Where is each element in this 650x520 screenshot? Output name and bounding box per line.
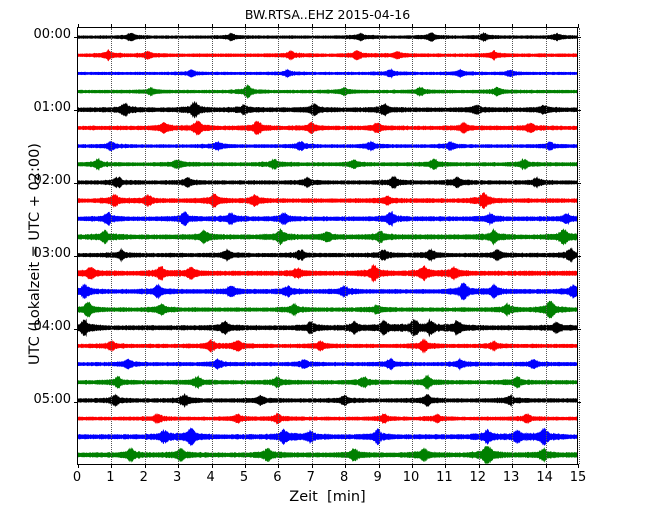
- y-tick-mark: [577, 110, 581, 111]
- x-tick-mark: [245, 464, 246, 468]
- seismogram-trace: [78, 211, 577, 226]
- seismogram-trace: [78, 192, 577, 208]
- x-tick-label: 4: [206, 470, 214, 485]
- x-tick-mark: [278, 464, 279, 468]
- seismogram-trace: [78, 359, 577, 370]
- x-tick-label: 14: [536, 470, 553, 485]
- seismogram-trace: [78, 413, 577, 424]
- grid-line-vertical: [412, 28, 413, 464]
- x-tick-mark: [412, 24, 413, 28]
- y-tick-mark: [577, 256, 581, 257]
- x-tick-mark: [546, 464, 547, 468]
- x-tick-label: 7: [307, 470, 315, 485]
- x-tick-mark: [145, 24, 146, 28]
- x-tick-label: 11: [436, 470, 453, 485]
- seismogram-trace: [78, 339, 577, 353]
- x-tick-mark: [78, 24, 79, 28]
- x-tick-mark: [78, 464, 79, 468]
- seismogram-canvas: [78, 28, 577, 464]
- seismogram-trace: [78, 101, 577, 118]
- x-tick-mark: [445, 24, 446, 28]
- grid-line-vertical: [345, 28, 346, 464]
- x-tick-mark: [479, 464, 480, 468]
- y-tick-mark: [74, 402, 78, 403]
- y-tick-mark: [74, 183, 78, 184]
- x-tick-label: 8: [340, 470, 348, 485]
- x-tick-mark: [212, 464, 213, 468]
- seismogram-trace: [78, 319, 577, 336]
- plot-axes: [77, 27, 578, 465]
- seismogram-figure: BW.RTSA..EHZ 2015-04-16 0123456789101112…: [0, 0, 650, 520]
- grid-line-vertical: [145, 28, 146, 464]
- grid-line-vertical: [445, 28, 446, 464]
- y-tick-mark: [74, 37, 78, 38]
- x-tick-mark: [379, 24, 380, 28]
- seismogram-trace: [78, 33, 577, 42]
- page-title: BW.RTSA..EHZ 2015-04-16: [77, 7, 578, 22]
- grid-line-vertical: [379, 28, 380, 464]
- grid-line-vertical: [479, 28, 480, 464]
- x-tick-label: 2: [140, 470, 148, 485]
- grid-line-vertical: [111, 28, 112, 464]
- y-tick-mark: [577, 183, 581, 184]
- x-tick-mark: [345, 24, 346, 28]
- x-tick-mark: [212, 24, 213, 28]
- x-tick-label: 3: [173, 470, 181, 485]
- seismogram-trace: [78, 159, 577, 170]
- x-tick-mark: [512, 464, 513, 468]
- grid-line-vertical: [312, 28, 313, 464]
- seismogram-trace: [78, 50, 577, 61]
- y-tick-mark: [577, 329, 581, 330]
- grid-line-vertical: [212, 28, 213, 464]
- x-tick-label: 0: [73, 470, 81, 485]
- x-tick-mark: [479, 24, 480, 28]
- grid-line-vertical: [178, 28, 179, 464]
- x-tick-label: 15: [570, 470, 587, 485]
- x-tick-mark: [379, 464, 380, 468]
- y-tick-mark: [74, 110, 78, 111]
- grid-line-vertical: [245, 28, 246, 464]
- x-tick-mark: [312, 464, 313, 468]
- x-tick-label: 5: [240, 470, 248, 485]
- seismogram-trace: [78, 176, 577, 188]
- seismogram-trace: [78, 428, 577, 445]
- x-tick-mark: [178, 464, 179, 468]
- y-axis-label: UTC (Lokalzeit = UTC + 02:00): [27, 124, 43, 384]
- x-tick-mark: [512, 24, 513, 28]
- x-tick-mark: [111, 464, 112, 468]
- grid-line-vertical: [546, 28, 547, 464]
- seismogram-trace: [78, 85, 577, 98]
- y-tick-mark: [577, 402, 581, 403]
- seismogram-trace: [78, 69, 577, 78]
- x-tick-mark: [345, 464, 346, 468]
- x-tick-label: 10: [403, 470, 420, 485]
- grid-line-vertical: [512, 28, 513, 464]
- seismogram-trace: [78, 141, 577, 151]
- y-tick-mark: [74, 329, 78, 330]
- x-tick-mark: [178, 24, 179, 28]
- seismogram-trace: [78, 248, 577, 262]
- seismogram-trace: [78, 265, 577, 282]
- y-tick-mark: [577, 37, 581, 38]
- seismogram-trace: [78, 283, 577, 300]
- seismogram-trace: [78, 301, 577, 318]
- grid-line-vertical: [579, 28, 580, 464]
- x-tick-mark: [412, 464, 413, 468]
- seismogram-trace: [78, 121, 577, 135]
- seismogram-trace: [78, 375, 577, 389]
- seismogram-trace: [78, 394, 577, 407]
- x-tick-label: 6: [273, 470, 281, 485]
- x-tick-label: 13: [503, 470, 520, 485]
- x-tick-mark: [278, 24, 279, 28]
- x-tick-mark: [145, 464, 146, 468]
- x-tick-mark: [445, 464, 446, 468]
- x-tick-mark: [111, 24, 112, 28]
- x-tick-mark: [312, 24, 313, 28]
- seismogram-trace: [78, 447, 577, 464]
- x-tick-mark: [578, 464, 579, 468]
- x-tick-mark: [578, 24, 579, 28]
- grid-line-vertical: [278, 28, 279, 464]
- x-tick-label: 1: [106, 470, 114, 485]
- y-tick-mark: [74, 256, 78, 257]
- seismogram-trace: [78, 229, 577, 245]
- x-tick-label: 12: [470, 470, 487, 485]
- x-tick-mark: [546, 24, 547, 28]
- x-tick-mark: [245, 24, 246, 28]
- x-tick-label: 9: [373, 470, 381, 485]
- x-axis-label: Zeit [min]: [77, 489, 578, 505]
